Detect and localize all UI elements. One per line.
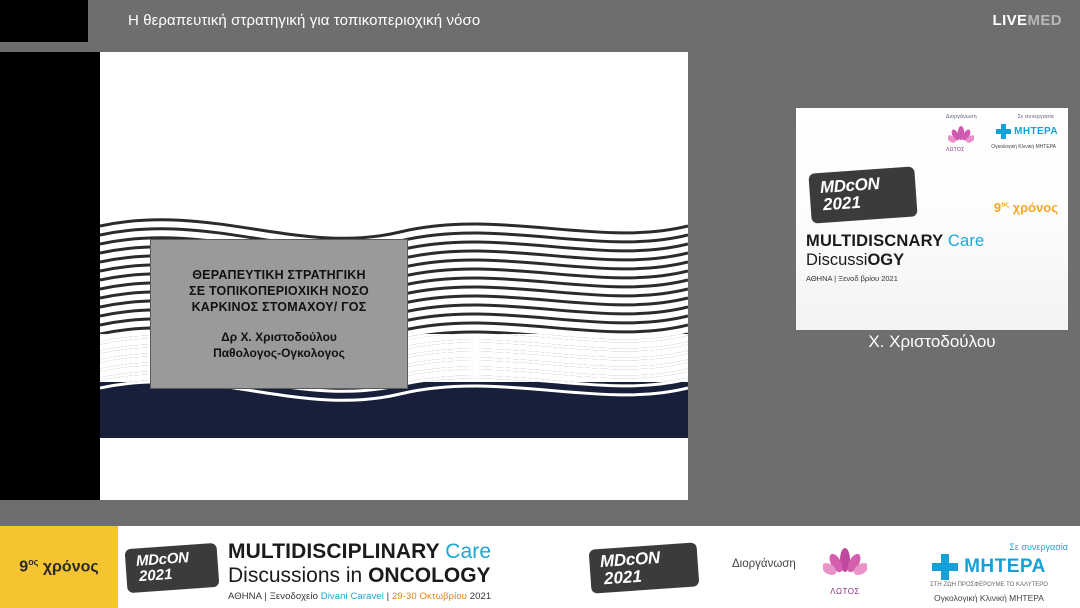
- conference-discussions: Discussions in: [228, 564, 368, 587]
- mdcon-badge: MDcON 2021: [126, 540, 218, 596]
- organizer-label: Διοργάνωση: [732, 558, 796, 570]
- conference-title-small: MULTIDISCNARY Care DiscussiOGY ΑΘΗΝΑ | Ξ…: [806, 232, 1068, 283]
- mitera-clinic: Ογκολογική Κλινική ΜΗΤΕΡΑ: [906, 593, 1072, 603]
- slide-title-box: ΘΕΡΑΠΕΥΤΙΚΗ ΣΤΡΑΤΗΓΙΚΗ ΣΕ ΤΟΠΙΚΟΠΕΡΙΟΧΙΚ…: [150, 239, 408, 389]
- mdcon-year-secondary: 2021: [603, 567, 642, 590]
- conference-line-1a: MULTIDISC: [806, 232, 896, 250]
- video-stage[interactable]: ΘΕΡΑΠΕΥΤΙΚΗ ΣΤΡΑΤΗΓΙΚΗ ΣΕ ΤΟΠΙΚΟΠΕΡΙΟΧΙΚ…: [0, 42, 1080, 526]
- conference-line-1: MULTIDISCIPLINARY Care: [228, 540, 538, 564]
- lotus-flower-icon: [823, 567, 867, 584]
- slide-author-role: Παθολογος-Ογκολογος: [213, 345, 345, 361]
- mitera-sub-small: Ογκολογική Κλινική ΜΗΤΕΡΑ: [991, 144, 1056, 151]
- mitera-logo-small: ΜΗΤΕΡΑ: [996, 124, 1058, 139]
- mdcon-badge-secondary: MDcON 2021: [572, 540, 722, 596]
- conference-line-2: Discussions in ONCOLOGY: [228, 564, 538, 588]
- cooperation-label-small: Σε συνεργασία: [1018, 114, 1054, 120]
- conference-line-3: ΑΘΗΝΑ | Ξενοδοχείο Divani Caravel | 29-3…: [228, 591, 538, 602]
- presentation-slide: ΘΕΡΑΠΕΥΤΙΚΗ ΣΤΡΑΤΗΓΙΚΗ ΣΕ ΤΟΠΙΚΟΠΕΡΙΟΧΙΚ…: [100, 52, 688, 500]
- slide-title-line-1: ΘΕΡΑΠΕΥΤΙΚΗ ΣΤΡΑΤΗΓΙΚΗ: [192, 267, 365, 283]
- chronos-text: 9ος χρόνος: [19, 557, 98, 576]
- chronos-text-small: 9ος χρόνος: [994, 200, 1058, 215]
- lotus-label-small: ΛΩΤΟΣ: [946, 147, 965, 153]
- livemed-med-text: MED: [1027, 12, 1062, 29]
- mitera-logo: Σε συνεργασία ΜΗΤΕΡΑ ΣΤΗ ΖΩΗ ΠΡΟΣΦΕΡΟΥΜΕ…: [906, 542, 1072, 603]
- conference-sep: |: [384, 591, 392, 602]
- top-bar: Η θεραπευτική στρατηγική για τοπικοπεριο…: [0, 0, 1080, 42]
- conference-care-small: Care: [948, 232, 985, 250]
- conference-care: Care: [445, 540, 491, 563]
- slide-title-line-2: ΣΕ ΤΟΠΙΚΟΠΕΡΙΟΧΙΚΗ ΝΟΣΟ: [189, 283, 369, 299]
- slide-title-line-3: ΚΑΡΚΙΝΟΣ ΣΤΟΜΑΧΟΥ/ ΓΟΣ: [192, 299, 367, 315]
- slide-author: Δρ Χ. Χριστοδούλου: [221, 329, 337, 345]
- organizer-label-small: Διοργάνωση: [946, 114, 977, 120]
- mitera-tagline: ΣΤΗ ΖΩΗ ΠΡΟΣΦΕΡΟΥΜΕ ΤΟ ΚΑΛΥΤΕΡΟ: [906, 582, 1072, 588]
- session-title: Η θεραπευτική στρατηγική για τοπικοπεριο…: [128, 12, 480, 29]
- lotus-logo: ΛΩΤΟΣ: [812, 546, 878, 600]
- conference-line-2-small: DiscussiOGY: [806, 251, 1068, 270]
- lotus-icon: [948, 124, 974, 146]
- livemed-live-text: LIVE: [993, 12, 1028, 29]
- slide-share-area[interactable]: ΘΕΡΑΠΕΥΤΙΚΗ ΣΤΡΑΤΗΓΙΚΗ ΣΕ ΤΟΠΙΚΟΠΕΡΙΟΧΙΚ…: [0, 52, 688, 500]
- mitera-name: ΜΗΤΕΡΑ: [964, 556, 1046, 578]
- conference-line-1-small: MULTIDISCNARY Care: [806, 232, 1068, 251]
- livemed-logo: LIVEMED: [993, 12, 1063, 29]
- speaker-video-panel[interactable]: Διοργάνωση Σε συνεργασία ΛΩΤΟΣ ΜΗΤ: [796, 108, 1068, 330]
- top-bar-left-filler: [0, 0, 88, 42]
- conference-year: 2021: [467, 591, 491, 602]
- mdcon-badge-small: MDcON 2021: [810, 162, 916, 228]
- sponsor-bar: 9ος χρόνος MDcON 2021 MULTIDISCIPLINARY …: [0, 526, 1080, 608]
- conference-multidisciplinary: MULTIDISCIPLINARY: [228, 540, 439, 563]
- cooperation-label: Σε συνεργασία: [906, 542, 1068, 552]
- conference-line-2b: OGY: [867, 251, 904, 269]
- mitera-label-small: ΜΗΤΕΡΑ: [1014, 126, 1058, 137]
- conference-city: ΑΘΗΝΑ | Ξενοδοχείο: [228, 591, 321, 602]
- mdcon-year: 2021: [138, 566, 172, 585]
- conference-line-2a: Discussi: [806, 251, 867, 269]
- conference-line-3-small: ΑΘΗΝΑ | Ξενοδ βρίου 2021: [806, 274, 1068, 283]
- chronos-badge: 9ος χρόνος: [0, 526, 118, 608]
- lotus-label: ΛΩΤΟΣ: [812, 587, 878, 596]
- mitera-cross-icon-large: [932, 554, 958, 580]
- conference-line-1b: NARY: [896, 232, 943, 250]
- mdcon-badge-year: 2021: [822, 193, 861, 216]
- conference-title: MULTIDISCIPLINARY Care Discussions in ON…: [228, 540, 538, 602]
- conference-hotel: Divani Caravel: [321, 591, 384, 602]
- mitera-logo-row: ΜΗΤΕΡΑ: [906, 554, 1072, 580]
- conference-oncology: ONCOLOGY: [368, 564, 491, 587]
- mitera-cross-icon: [996, 124, 1011, 139]
- video-player-root: Η θεραπευτική στρατηγική για τοπικοπεριο…: [0, 0, 1080, 608]
- slide-footer-band: [100, 438, 688, 500]
- conference-dates: 29-30 Οκτωβρίου: [392, 591, 467, 602]
- speaker-name: Χ. Χριστοδούλου: [796, 332, 1068, 352]
- chronos-badge-small: 9ος χρόνος: [994, 200, 1058, 215]
